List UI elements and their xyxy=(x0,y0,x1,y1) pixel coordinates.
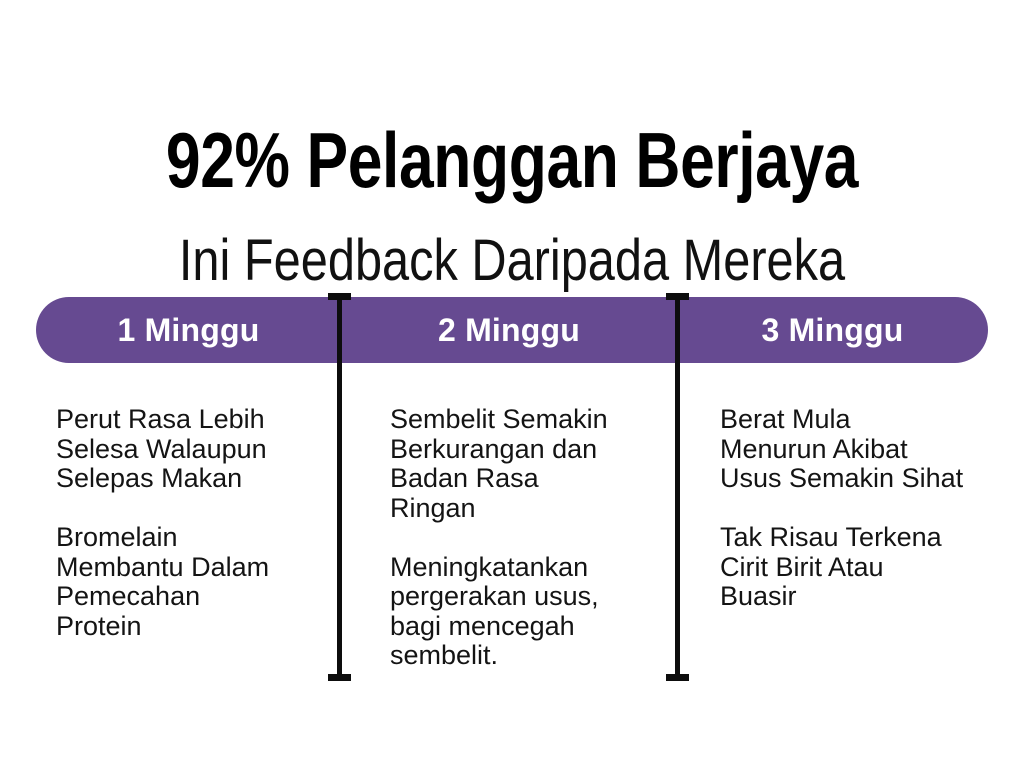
timeline-header-week-2: 2 Minggu xyxy=(341,297,677,363)
benefit-item: Sembelit Semakin Berkurangan dan Badan R… xyxy=(390,405,665,523)
benefit-item: Bromelain Membantu Dalam Pemecahan Prote… xyxy=(56,523,326,641)
page-subtitle: Ini Feedback Daripada Mereka xyxy=(82,226,942,296)
testimonial-slide: 92% Pelanggan Berjaya Ini Feedback Darip… xyxy=(0,0,1024,779)
timeline-header-week-3: 3 Minggu xyxy=(677,297,988,363)
timeline-column-week-1: Perut Rasa Lebih Selesa Walaupun Selepas… xyxy=(56,378,326,668)
benefit-item: Tak Risau Terkena Cirit Birit Atau Buasi… xyxy=(720,523,1005,612)
timeline-column-week-2: Sembelit Semakin Berkurangan dan Badan R… xyxy=(390,378,665,698)
timeline-column-week-3: Berat Mula Menurun Akibat Usus Semakin S… xyxy=(720,378,1005,639)
benefit-item: Perut Rasa Lebih Selesa Walaupun Selepas… xyxy=(56,405,326,494)
timeline-header-week-1: 1 Minggu xyxy=(36,297,341,363)
benefit-item: Meningkatankan pergerakan usus, bagi men… xyxy=(390,553,665,671)
timeline-header-bar: 1 Minggu 2 Minggu 3 Minggu xyxy=(36,297,988,363)
column-divider-1 xyxy=(337,293,342,681)
benefit-item: Berat Mula Menurun Akibat Usus Semakin S… xyxy=(720,405,1005,494)
timeline-columns: Perut Rasa Lebih Selesa Walaupun Selepas… xyxy=(0,378,1024,678)
column-divider-2 xyxy=(675,293,680,681)
page-title: 92% Pelanggan Berjaya xyxy=(102,114,921,206)
